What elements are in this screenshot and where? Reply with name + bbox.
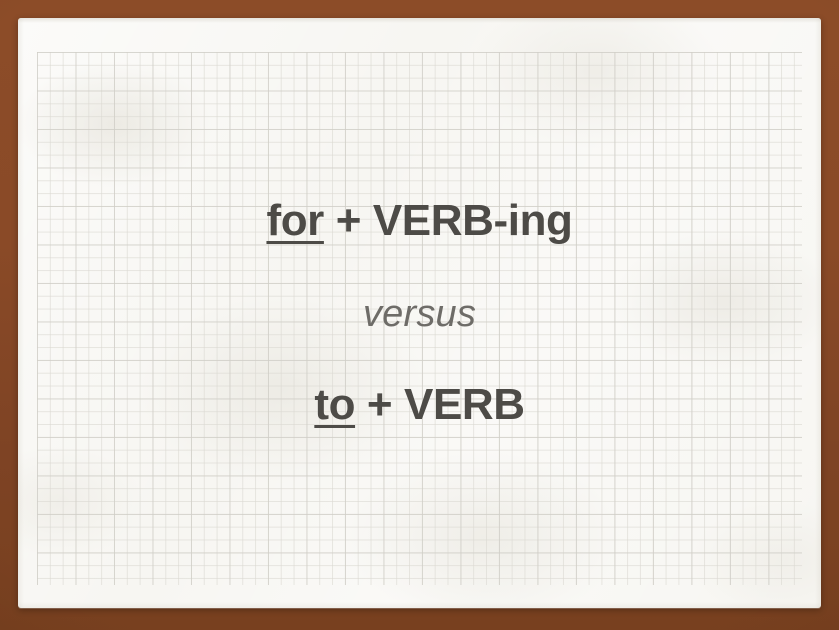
headline-secondary-underlined-term: to [314,380,355,429]
slide-content: for + VERB-ing versus to + VERB [18,18,821,608]
headline-secondary: to + VERB [314,383,524,427]
grid-paper-card: for + VERB-ing versus to + VERB [18,18,821,608]
headline-primary: for + VERB-ing [266,199,572,243]
slide-frame: for + VERB-ing versus to + VERB [0,0,839,630]
headline-secondary-rest: + VERB [355,380,525,429]
headline-primary-underlined-term: for [266,196,323,245]
connector-word: versus [363,295,476,333]
headline-primary-rest: + VERB-ing [324,196,573,245]
